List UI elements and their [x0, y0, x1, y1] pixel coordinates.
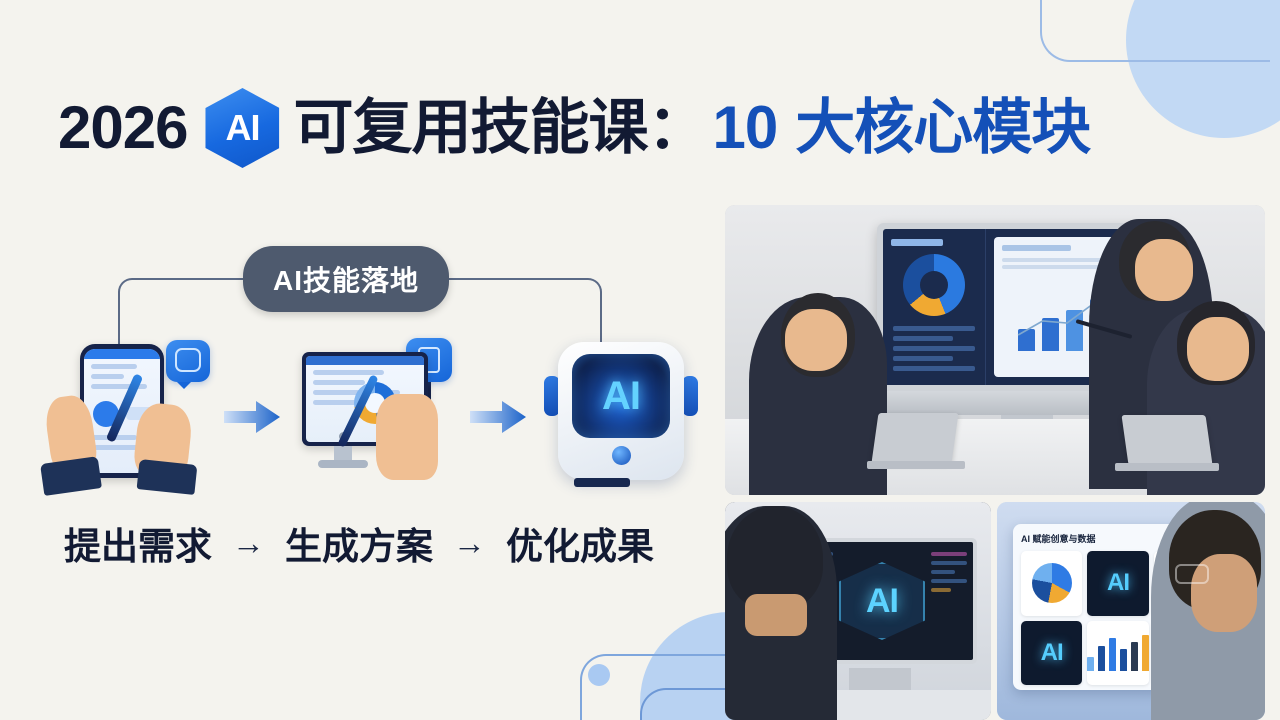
- bar: [1131, 642, 1138, 671]
- eyeglasses-icon: [1175, 564, 1209, 584]
- flow-stage-ai-robot: AI: [526, 332, 716, 502]
- bar-chart: [1087, 635, 1148, 671]
- flow-arrow-1: [224, 400, 280, 434]
- dashboard-list-row: [893, 356, 953, 361]
- title-highlight-number: 10: [712, 98, 777, 158]
- arrow-right-icon: [470, 400, 526, 434]
- step-separator-arrow-icon: →: [453, 524, 486, 562]
- laptop-right: [1121, 415, 1212, 465]
- hologram-hexagon-icon: AI: [839, 562, 925, 640]
- sidebar-stat: [931, 552, 967, 556]
- sidebar-stat: [931, 570, 955, 574]
- robot-base: [574, 478, 630, 487]
- dashboard-chart-title: [1002, 245, 1071, 251]
- board-card-pie-chart: [1021, 551, 1082, 616]
- sidebar-stat: [931, 588, 951, 592]
- chat-bubble-icon: [166, 340, 210, 382]
- bar: [1120, 649, 1127, 671]
- hologram-ai-label: AI: [866, 582, 898, 621]
- person-standing-face: [1135, 239, 1193, 301]
- phone-text-line: [91, 374, 124, 379]
- title-middle: 可复用技能课：: [293, 98, 706, 158]
- robot-ai-label: AI: [602, 374, 640, 419]
- phone-status-bar: [84, 349, 160, 359]
- robot-lens-button: [612, 446, 631, 465]
- person-right-face: [1187, 317, 1249, 381]
- step-label-3: 优化成果: [506, 516, 654, 570]
- flow-stage-phone-request: [34, 332, 224, 502]
- step-separator-arrow-icon: →: [232, 524, 265, 562]
- bar: [1042, 318, 1059, 351]
- robot-face-screen: AI: [572, 354, 670, 438]
- dashboard-heading-bar: [891, 239, 943, 246]
- board-ai-label: AI: [1107, 569, 1129, 597]
- monitor-text-line: [313, 380, 365, 385]
- person-back-neck: [745, 594, 807, 636]
- monitor-illustration-icon: [280, 332, 470, 502]
- sidebar-stat: [931, 561, 967, 565]
- title-year: 2026: [58, 98, 187, 158]
- bar: [1018, 329, 1035, 351]
- right-sleeve-shape: [137, 459, 198, 495]
- laptop-right-base: [1115, 463, 1219, 471]
- arrow-right-icon: [224, 400, 280, 434]
- board-card-bar-chart: [1087, 621, 1148, 686]
- bottom-right-dot-decoration: [588, 664, 610, 686]
- ai-hexagon-badge-icon: AI: [205, 88, 279, 168]
- flow-stage-monitor-plan: [280, 332, 470, 502]
- step-label-1: 提出需求: [64, 516, 212, 570]
- monitor-title-bar: [306, 356, 424, 365]
- phone-text-line: [91, 364, 137, 369]
- top-right-circle-decoration: [1126, 0, 1280, 138]
- photo-ai-hologram-viewer: AI: [725, 502, 991, 720]
- dashboard-left-panel: [883, 229, 986, 385]
- photo-business-meeting: [725, 205, 1265, 495]
- flow-stage-row: AI: [34, 332, 694, 502]
- dashboard-list-row: [893, 326, 975, 331]
- ai-robot-illustration-icon: AI: [526, 332, 716, 502]
- robot-body: AI: [558, 342, 684, 480]
- robot-right-ear: [682, 376, 698, 416]
- title-highlight-text: 大核心模块: [795, 98, 1090, 158]
- pointing-hand-shape: [376, 394, 438, 480]
- bar: [1098, 646, 1105, 671]
- bar: [1066, 310, 1083, 351]
- dashboard-list-row: [893, 336, 953, 341]
- dashboard-list-row: [893, 366, 975, 371]
- board-ai-label-secondary: AI: [1041, 639, 1063, 667]
- chat-bubble-inner-shape: [175, 348, 201, 372]
- laptop-left: [871, 413, 958, 463]
- bar: [1142, 635, 1149, 670]
- laptop-left-base: [867, 461, 965, 469]
- photo-ai-presentation-board: AI 赋能创意与数据 AI AI: [997, 502, 1265, 720]
- bar: [1109, 638, 1116, 671]
- imac-hologram-neck: [849, 668, 911, 690]
- flow-step-labels: 提出需求 → 生成方案 → 优化成果: [0, 516, 718, 570]
- page-title: 2026 AI 可复用技能课： 10 大核心模块: [58, 88, 1090, 168]
- dashboard-donut-chart: [903, 254, 965, 316]
- hologram-right-sidebar: [931, 552, 967, 597]
- ai-badge-label: AI: [225, 107, 259, 149]
- sidebar-stat: [931, 579, 967, 583]
- step-label-2: 生成方案: [285, 516, 433, 570]
- flow-arrow-2: [470, 400, 526, 434]
- monitor-base: [318, 460, 368, 468]
- bar: [1087, 657, 1094, 671]
- phone-illustration-icon: [34, 332, 224, 502]
- board-card-ai-secondary: AI: [1021, 621, 1082, 686]
- person-left-face: [785, 309, 847, 371]
- board-card-ai-primary: AI: [1087, 551, 1148, 616]
- left-sleeve-shape: [40, 456, 102, 496]
- dashboard-list-row: [893, 346, 975, 351]
- pie-chart: [1032, 563, 1072, 603]
- flow-pill-label: AI技能落地: [243, 246, 449, 312]
- top-right-line-decoration: [1040, 0, 1270, 62]
